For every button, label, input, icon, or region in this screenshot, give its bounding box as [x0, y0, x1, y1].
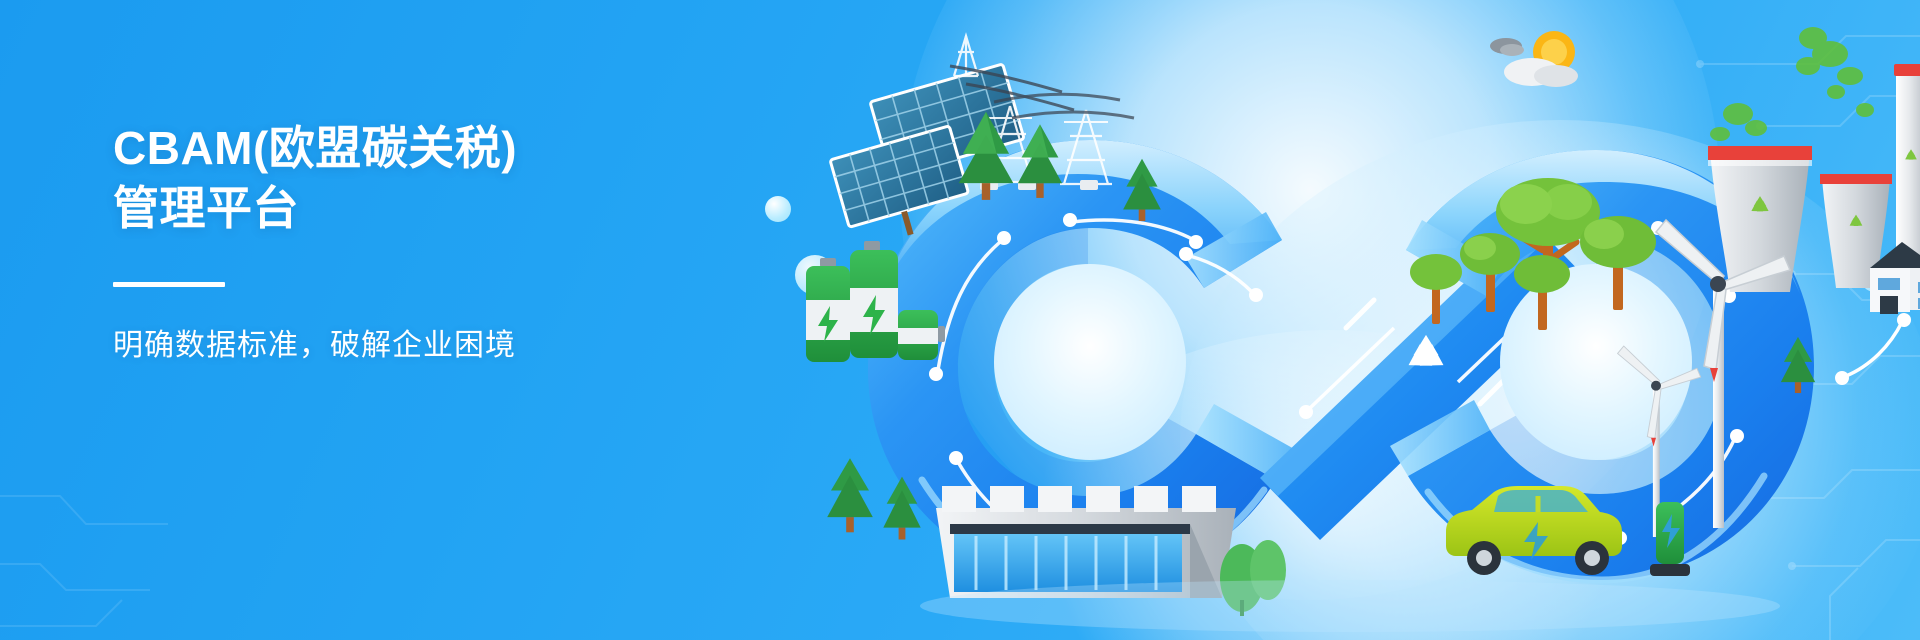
carbon-neutral-illustration — [790, 10, 1920, 640]
page-title: CBAM(欧盟碳关税) 管理平台 — [113, 118, 813, 238]
circuit-lines-decoration-left — [0, 440, 260, 640]
page-title-line-1: CBAM(欧盟碳关税) — [113, 118, 813, 178]
sun-cloud-icon — [1490, 31, 1578, 87]
cooling-tower — [1708, 146, 1892, 292]
charging-station — [1650, 502, 1690, 576]
emission-smoke — [1710, 27, 1874, 141]
bubble-icon — [765, 196, 791, 222]
title-divider — [113, 282, 225, 287]
page-title-line-2: 管理平台 — [113, 178, 813, 238]
hero-banner: CBAM(欧盟碳关税) 管理平台 明确数据标准，破解企业困境 — [0, 0, 1920, 640]
hero-copy: CBAM(欧盟碳关税) 管理平台 明确数据标准，破解企业困境 — [113, 118, 813, 367]
page-subtitle: 明确数据标准，破解企业困境 — [113, 325, 813, 367]
